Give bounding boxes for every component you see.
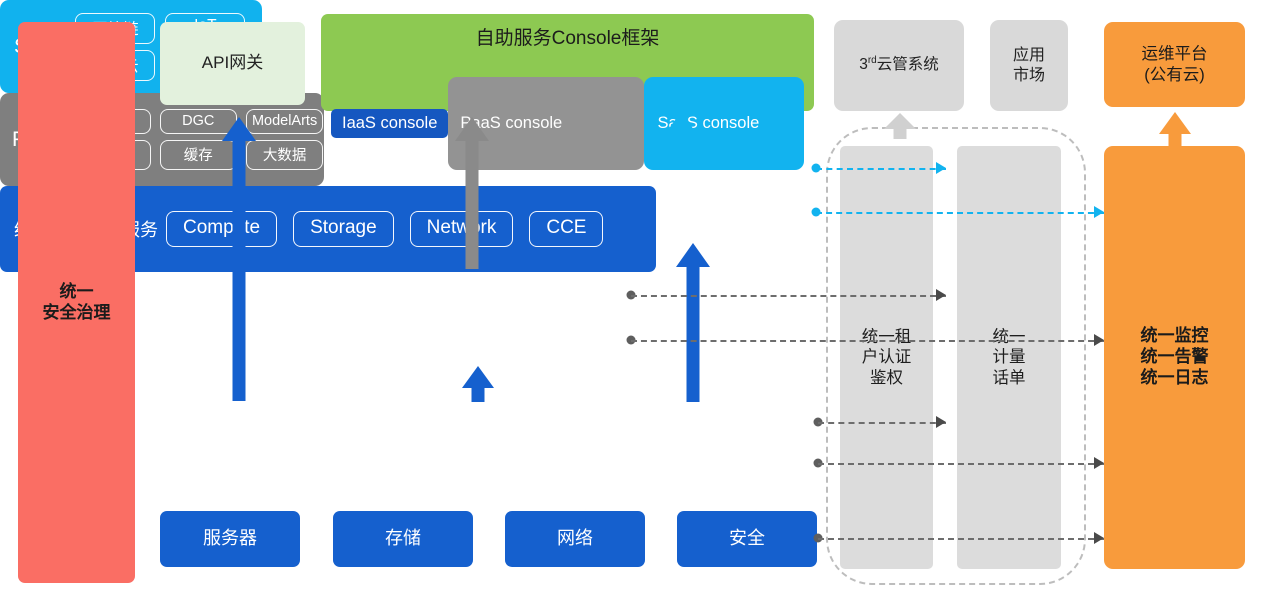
hardware-item-security[interactable]: 安全	[677, 511, 817, 567]
hardware-storage-label: 存储	[385, 528, 421, 550]
meter-col-line1: 统一	[993, 327, 1026, 348]
app-market-line1: 应用	[1013, 46, 1045, 66]
third-party-label: 3rd云管系统	[859, 55, 939, 75]
arrow-infra-to-api-gateway	[222, 117, 256, 401]
self-service-console-frame: 自助服务Console框架 IaaS console PaaS console …	[321, 14, 814, 111]
third-party-cloud-mgmt-box: 3rd云管系统	[834, 20, 964, 111]
security-pillar-line2: 安全治理	[43, 303, 111, 324]
paas-item-modelarts[interactable]: ModelArts	[246, 109, 323, 134]
auth-col-line1: 统一租	[862, 327, 912, 348]
dashed-paas-to-ops	[631, 340, 1104, 342]
ops-platform-public-cloud-box: 运维平台 (公有云)	[1104, 22, 1245, 107]
app-market-box: 应用 市场	[990, 20, 1068, 111]
hardware-item-server[interactable]: 服务器	[160, 511, 300, 567]
arrowhead-infra-to-auth	[936, 416, 946, 428]
arrow-paas-to-console	[455, 117, 489, 269]
api-gateway-box: API网关	[160, 22, 305, 105]
arrow-capsule-to-third-party	[884, 113, 916, 139]
infra-item-cce[interactable]: CCE	[529, 211, 603, 247]
ops-panel-line3: 统一日志	[1141, 368, 1209, 389]
dashed-paas-to-auth	[631, 295, 946, 297]
infra-item-storage[interactable]: Storage	[293, 211, 394, 247]
security-governance-pillar: 统一 安全治理	[18, 22, 135, 583]
arrowhead-hardware-to-ops	[1094, 532, 1104, 544]
paas-item-bigdata[interactable]: 大数据	[246, 140, 323, 170]
dashed-infra-to-ops	[818, 463, 1104, 465]
console-chip-row: IaaS console PaaS console SaaS console	[321, 77, 814, 170]
dashed-infra-to-auth	[818, 422, 946, 424]
ops-panel-line2: 统一告警	[1141, 347, 1209, 368]
app-market-line2: 市场	[1013, 66, 1045, 86]
unified-metering-column: 统一 计量 话单	[957, 146, 1061, 569]
architecture-diagram: 统一 安全治理 API网关 自助服务Console框架 IaaS console…	[0, 0, 1265, 605]
dashed-hardware-to-ops	[818, 538, 1104, 540]
auth-col-line3: 鉴权	[862, 368, 912, 389]
arrowhead-infra-to-ops	[1094, 457, 1104, 469]
meter-col-line3: 话单	[993, 368, 1026, 389]
api-gateway-label: API网关	[202, 53, 263, 74]
arrowhead-saas-to-auth	[936, 162, 946, 174]
security-pillar-line1: 统一	[43, 282, 111, 303]
hardware-item-network[interactable]: 网络	[505, 511, 645, 567]
hardware-item-storage[interactable]: 存储	[333, 511, 473, 567]
dashed-saas-to-auth	[816, 168, 946, 170]
hardware-security-label: 安全	[729, 528, 765, 550]
console-frame-title: 自助服务Console框架	[321, 27, 814, 50]
ops-panel-line1: 统一监控	[1141, 326, 1209, 347]
auth-col-line2: 户认证	[862, 347, 912, 368]
ops-platform-line1: 运维平台	[1142, 44, 1208, 64]
arrow-ops-panel-to-ops-top	[1159, 112, 1191, 148]
ops-monitoring-panel: 统一监控 统一告警 统一日志	[1104, 146, 1245, 569]
dashed-saas-to-ops	[816, 212, 1104, 214]
hardware-server-label: 服务器	[203, 528, 257, 550]
iaas-console-chip[interactable]: IaaS console	[331, 109, 448, 138]
arrowhead-paas-to-auth	[936, 289, 946, 301]
arrow-saas-to-console	[665, 112, 697, 148]
meter-col-line2: 计量	[993, 347, 1026, 368]
arrow-infra-to-saas	[676, 243, 710, 402]
arrowhead-saas-to-ops	[1094, 206, 1104, 218]
arrowhead-paas-to-ops	[1094, 334, 1104, 346]
arrow-infra-to-paas	[462, 366, 494, 402]
unified-tenant-auth-column: 统一租 户认证 鉴权	[840, 146, 933, 569]
ops-platform-line2: (公有云)	[1142, 65, 1208, 85]
hardware-network-label: 网络	[557, 528, 593, 550]
